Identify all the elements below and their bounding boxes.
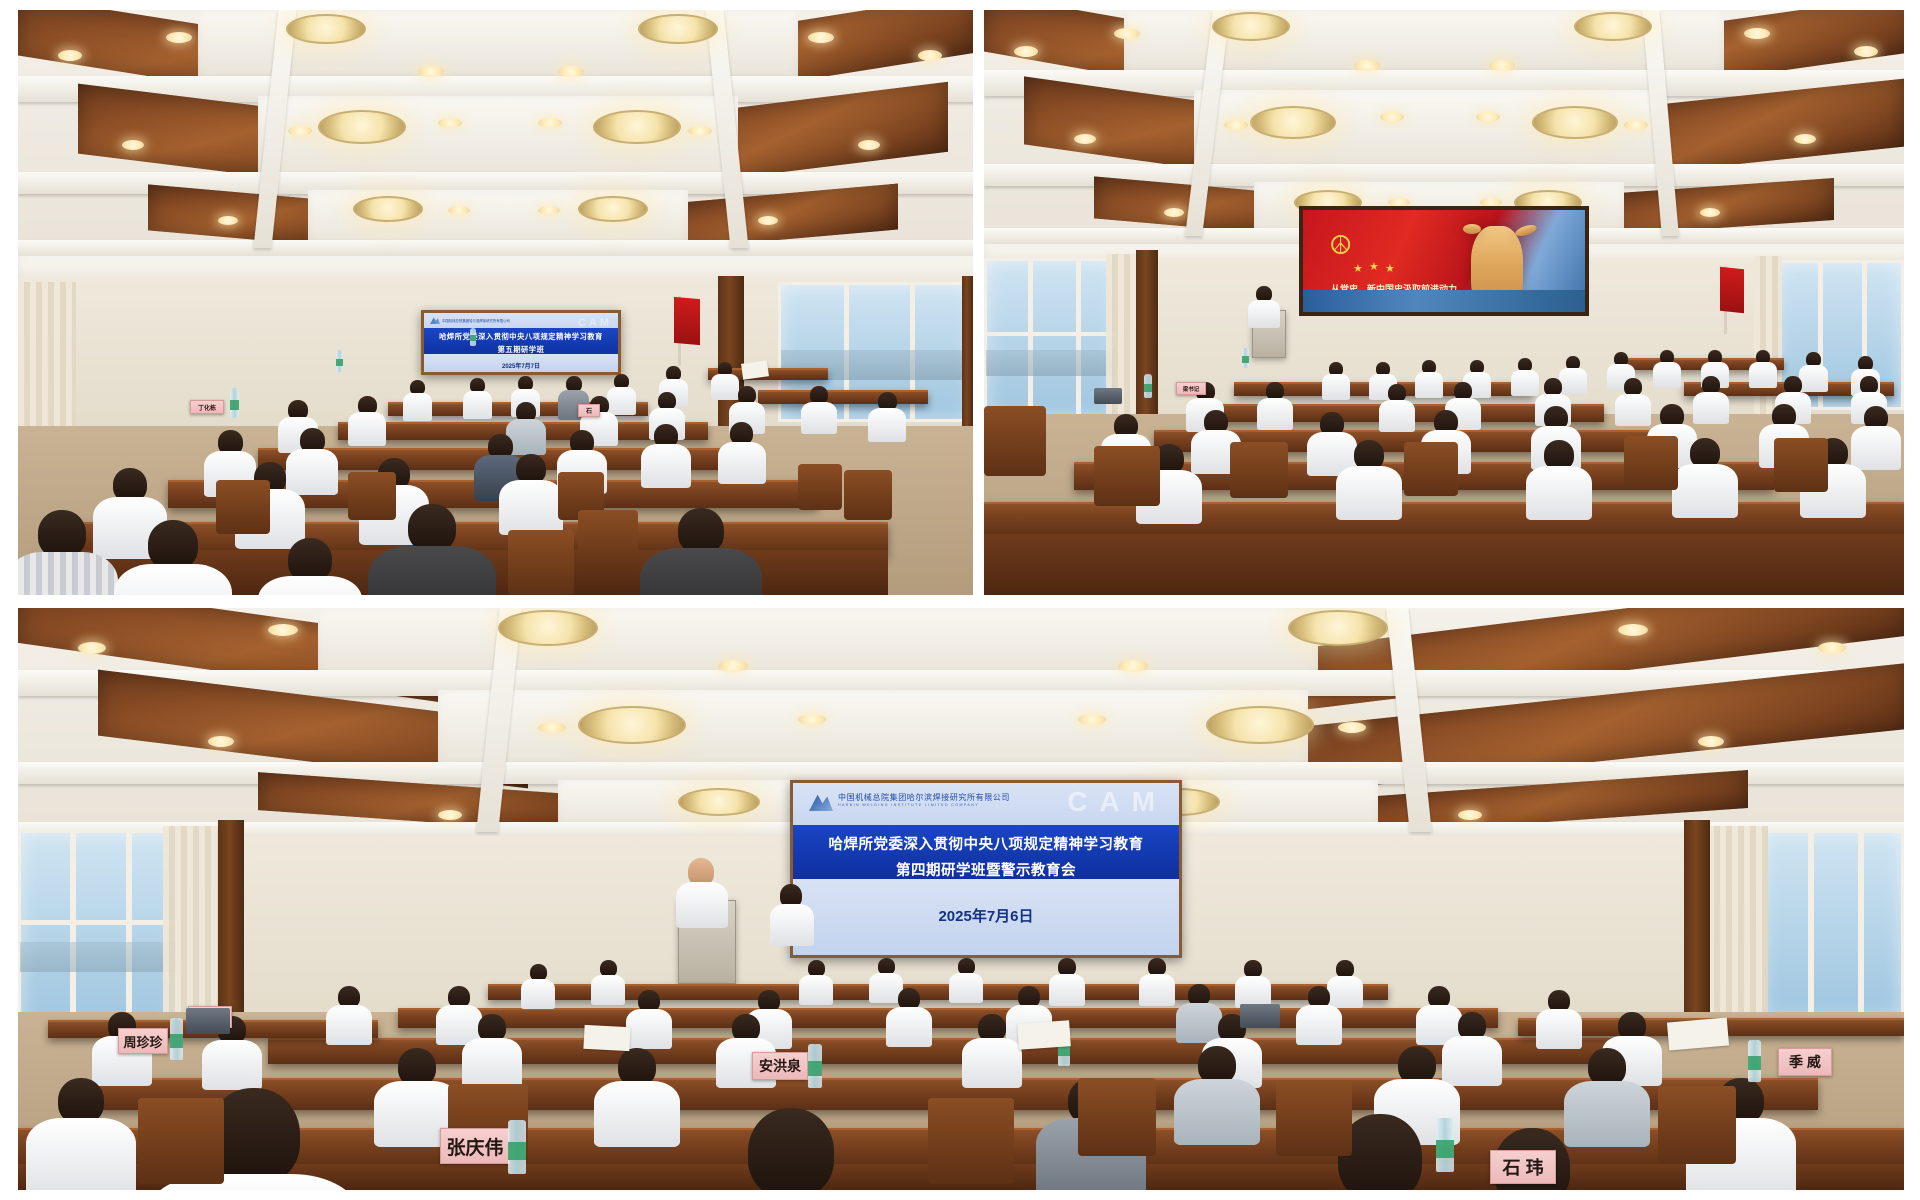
mountain-logo-icon xyxy=(809,792,833,811)
led-screen-top-right: ☮ ★ ★ ★ 从党史、新中国史汲取前进动力 中 央 xyxy=(1299,206,1589,316)
chinese-flag xyxy=(1720,267,1744,314)
nameplate-anhongquan: 安洪泉 xyxy=(752,1052,808,1080)
nameplate-zhangqingwei-visible: 张庆伟 xyxy=(440,1128,510,1164)
nameplate-jiwei: 季 威 xyxy=(1778,1048,1832,1076)
projection-screen-main: CAM 中国机械总院集团哈尔滨焊接研究所有限公司 HARBIN WELDING … xyxy=(790,780,1182,958)
nameplate: 石 xyxy=(578,404,600,417)
star-icon: ★ xyxy=(1353,262,1363,275)
chinese-flag xyxy=(674,297,700,345)
photo-top-left: CAM 中国机械总院集团哈尔滨焊接研究所有限公司 哈焊所党委深入贯彻中央八项规定… xyxy=(18,10,973,595)
screen-title-line1: 哈焊所党委深入贯彻中央八项规定精神学习教育 xyxy=(424,332,618,342)
laptop xyxy=(186,1008,230,1034)
window-right xyxy=(1760,830,1904,1020)
nameplate: 梁书记 xyxy=(1176,382,1206,395)
laptop xyxy=(1240,1004,1280,1028)
ceiling-top-left xyxy=(18,10,973,280)
party-emblem-icon: ☮ xyxy=(1329,232,1352,258)
star-icon: ★ xyxy=(1385,262,1395,275)
screen-logo-subtext: HARBIN WELDING INSTITUTE LIMITED COMPANY xyxy=(838,803,1010,807)
screen-logo-text: 中国机械总院集团哈尔滨焊接研究所有限公司 xyxy=(838,792,1010,803)
screen-watermark: CAM xyxy=(1067,786,1167,818)
screen-date: 2025年7月7日 xyxy=(424,361,618,370)
nameplate: 丁化栋 xyxy=(190,400,224,414)
nameplate-shiwei: 石 玮 xyxy=(1490,1150,1556,1184)
projection-screen-top-left: CAM 中国机械总院集团哈尔滨焊接研究所有限公司 哈焊所党委深入贯彻中央八项规定… xyxy=(421,310,621,375)
mountain-logo-icon xyxy=(430,316,440,324)
screen-title-line2: 第四期研学班暨警示教育会 xyxy=(793,859,1179,880)
screen-logo-text: 中国机械总院集团哈尔滨焊接研究所有限公司 xyxy=(442,318,510,323)
photo-bottom-wide: CAM 中国机械总院集团哈尔滨焊接研究所有限公司 HARBIN WELDING … xyxy=(18,608,1904,1190)
nameplate-zhouzhenzhen: 周珍珍 xyxy=(118,1028,168,1054)
star-icon: ★ xyxy=(1369,260,1379,273)
photo-collage: CAM 中国机械总院集团哈尔滨焊接研究所有限公司 哈焊所党委深入贯彻中央八项规定… xyxy=(0,0,1920,1200)
screen-date: 2025年7月6日 xyxy=(793,905,1179,926)
photo-top-right: ☮ ★ ★ ★ 从党史、新中国史汲取前进动力 中 央 xyxy=(984,10,1904,595)
screen-title-line1: 哈焊所党委深入贯彻中央八项规定精神学习教育 xyxy=(793,833,1179,854)
window-left xyxy=(18,830,178,1030)
